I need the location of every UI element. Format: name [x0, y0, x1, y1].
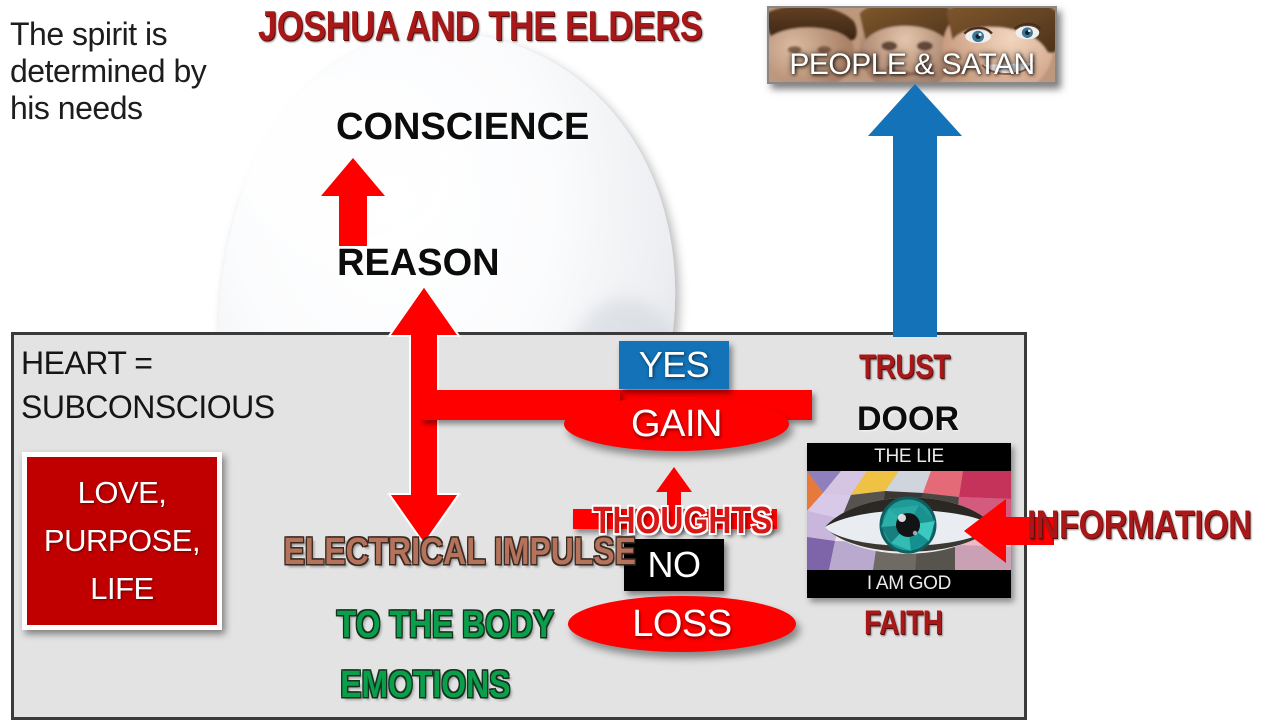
arrow-up-icon-people: [865, 82, 965, 337]
loss-oval[interactable]: LOSS: [568, 596, 796, 652]
gain-oval[interactable]: GAIN: [564, 397, 789, 451]
page-title: JOSHUA AND THE ELDERS: [258, 2, 702, 50]
heart-box-line1: LOVE,: [44, 469, 200, 517]
heart-box-line2: PURPOSE,: [44, 517, 200, 565]
electrical-impulse-label: ELECTRICAL IMPULSE: [284, 531, 636, 574]
love-purpose-life-box: LOVE, PURPOSE, LIFE: [22, 452, 222, 630]
trust-label: TRUST: [859, 348, 950, 387]
emotions-label: EMOTIONS: [340, 664, 510, 707]
heart-label-line1: HEART =: [21, 345, 152, 382]
eye-top-caption: THE LIE: [807, 443, 1011, 471]
faith-label: FAITH: [864, 604, 942, 643]
information-label: INFORMATION: [1027, 503, 1251, 548]
arrow-up-icon-conscience: [319, 156, 387, 246]
to-the-body-label: TO THE BODY: [337, 604, 555, 647]
no-button[interactable]: NO: [624, 539, 724, 591]
door-label: DOOR: [857, 400, 959, 439]
reason-label: REASON: [337, 242, 500, 285]
heart-label-line2: SUBCONSCIOUS: [21, 389, 275, 426]
intro-text: The spirit is determined by his needs: [10, 16, 240, 127]
yes-button[interactable]: YES: [619, 341, 729, 389]
people-and-satan-photo: [767, 6, 1057, 84]
conscience-label: CONSCIENCE: [336, 106, 589, 149]
heart-box-line3: LIFE: [44, 565, 200, 613]
eye-bottom-caption: I AM GOD: [807, 570, 1011, 598]
slide-canvas: The spirit is determined by his needs JO…: [0, 0, 1280, 720]
